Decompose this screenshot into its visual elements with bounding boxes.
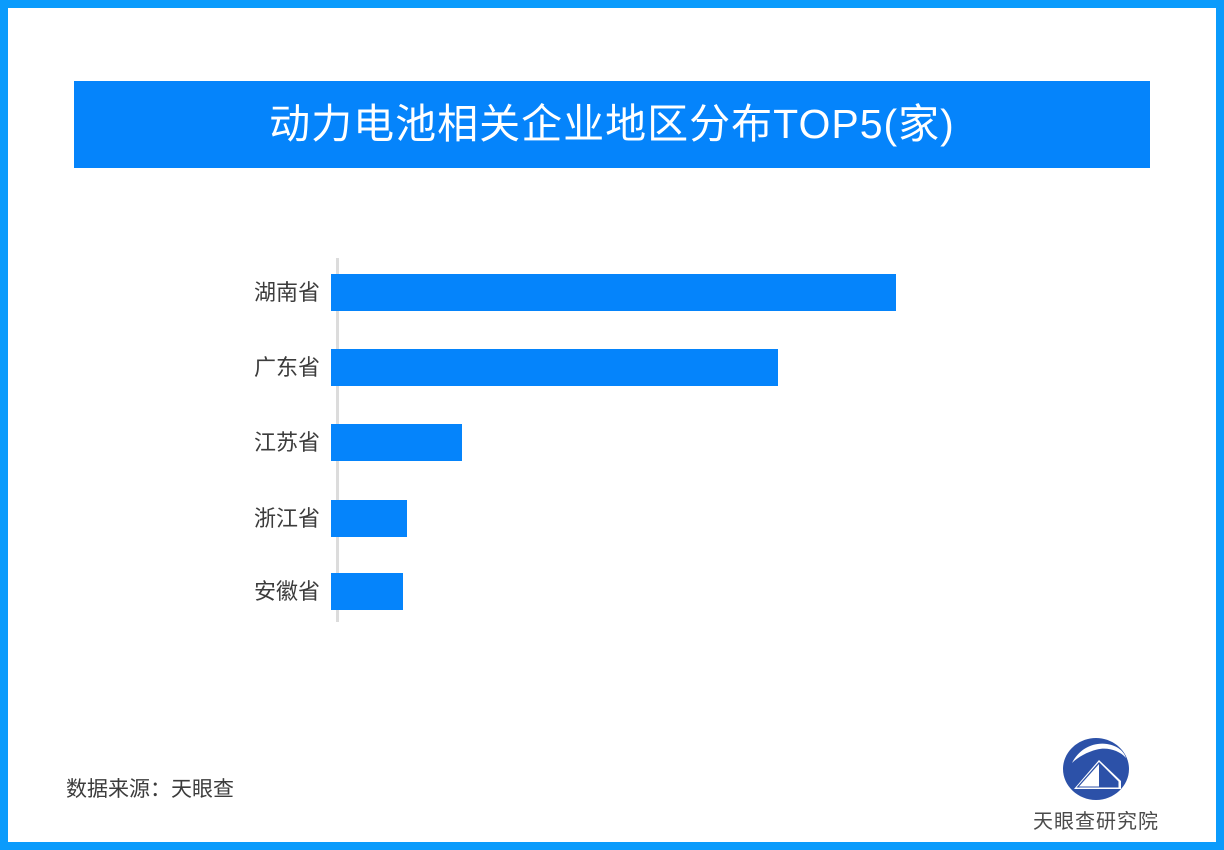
logo-wordmark: 天眼查研究院 xyxy=(1033,805,1159,834)
bar-value-rect[interactable] xyxy=(331,573,403,610)
bar-track xyxy=(329,349,1119,386)
data-source-note: 数据来源：天眼查 xyxy=(66,773,234,803)
bar-track xyxy=(329,573,1119,610)
brand-logo: 天眼查研究院 xyxy=(1011,736,1181,836)
bar-row: 广东省 xyxy=(219,349,1119,386)
bar-track xyxy=(329,424,1119,461)
bar-category-label: 安徽省 xyxy=(219,573,329,610)
bar-row: 浙江省 xyxy=(219,500,1119,537)
bar-chart: 湖南省 广东省 江苏省 浙江省 xyxy=(8,8,1216,842)
bar-track xyxy=(329,500,1119,537)
bar-track xyxy=(329,274,1119,311)
bar-value-rect[interactable] xyxy=(331,500,407,537)
bar-value-rect[interactable] xyxy=(331,424,462,461)
bar-value-rect[interactable] xyxy=(331,349,778,386)
infographic-canvas: 动力电池相关企业地区分布TOP5(家) 湖南省 广东省 江苏省 xyxy=(0,0,1224,850)
bar-category-label: 浙江省 xyxy=(219,500,329,537)
chart-plot-area: 湖南省 广东省 江苏省 浙江省 xyxy=(219,250,1119,630)
bar-row: 安徽省 xyxy=(219,573,1119,610)
bar-row: 湖南省 xyxy=(219,274,1119,311)
bar-row: 江苏省 xyxy=(219,424,1119,461)
bar-category-label: 广东省 xyxy=(219,349,329,386)
bar-category-label: 江苏省 xyxy=(219,424,329,461)
bar-value-rect[interactable] xyxy=(331,274,896,311)
tianyancha-eye-logo-icon xyxy=(1059,736,1133,802)
bar-category-label: 湖南省 xyxy=(219,274,329,311)
